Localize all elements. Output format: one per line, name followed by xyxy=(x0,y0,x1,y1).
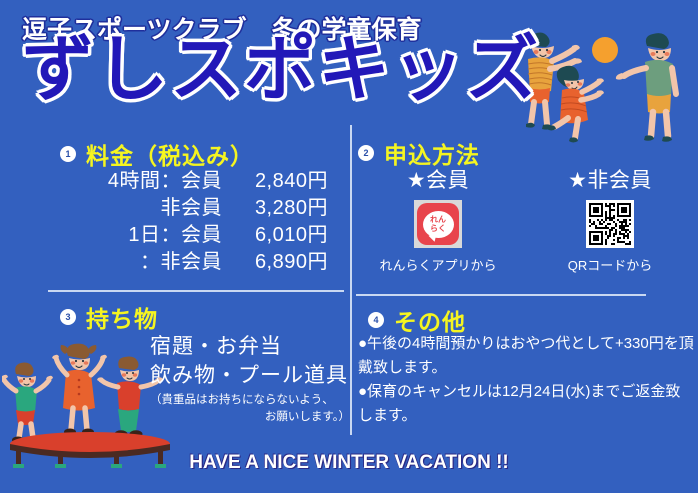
price-row: ：非会員 6,890円 xyxy=(40,249,328,276)
apply-methods: ★会員 れん らく れんらくアプリから ★非会員 QRコードから xyxy=(352,164,696,274)
renraku-icon-body: れん らく xyxy=(417,203,459,245)
section-title-belongings: 持ち物 xyxy=(86,300,158,334)
price-label: 非会員 xyxy=(40,195,228,222)
price-label: 4時間：会員 xyxy=(40,168,228,195)
belongings-note-line-1: （貴重品はお持ちにならないよう、 xyxy=(150,394,334,406)
belongings-line-2: 飲み物・プール道具 xyxy=(150,361,348,390)
section-number-badge-3: 3 xyxy=(60,309,76,325)
renraku-icon-line2: らく xyxy=(430,224,446,233)
section-number-badge-4: 4 xyxy=(368,312,384,328)
price-amount: 6,010円 xyxy=(228,222,328,249)
price-label: 1日：会員 xyxy=(40,222,228,249)
poster-canvas: 逗子スポーツクラブ 冬の学童保育 ずしスポキッズ 1 料金（税込み） 4時間：会… xyxy=(0,0,698,493)
price-amount: 2,840円 xyxy=(228,168,328,195)
belongings-list: 宿題・お弁当 飲み物・プール道具 xyxy=(150,332,348,390)
renraku-icon-line1: れん xyxy=(430,215,446,224)
section-heading-prices: 1 料金（税込み） xyxy=(60,137,254,171)
price-row: 4時間：会員 2,840円 xyxy=(40,168,328,195)
section-heading-belongings: 3 持ち物 xyxy=(60,300,158,334)
nonmember-apply-caption: QRコードから xyxy=(568,255,653,274)
belongings-note-line-2: お願いします。） xyxy=(150,409,350,426)
member-star-label: ★会員 xyxy=(407,164,469,194)
member-apply-caption: れんらくアプリから xyxy=(379,255,496,274)
section-number-badge-1: 1 xyxy=(60,146,76,162)
qr-code-matrix xyxy=(589,203,631,245)
renraku-app-icon[interactable]: れん らく xyxy=(414,200,462,248)
qr-code[interactable] xyxy=(586,200,634,248)
other-notes: ●午後の4時間預かりはおやつ代として+330円を頂戴致します。 ●保育のキャンセ… xyxy=(358,332,694,428)
price-label: ：非会員 xyxy=(40,249,228,276)
price-table: 4時間：会員 2,840円 非会員 3,280円 1日：会員 6,010円 ：非… xyxy=(40,168,328,276)
nonmember-star-label: ★非会員 xyxy=(568,164,652,194)
horizontal-divider-right xyxy=(356,294,646,296)
apply-method-member: ★会員 れん らく れんらくアプリから xyxy=(352,164,524,274)
other-bullet-1: ●午後の4時間預かりはおやつ代として+330円を頂戴致します。 xyxy=(358,332,694,380)
price-row: 1日：会員 6,010円 xyxy=(40,222,328,249)
apply-method-nonmember: ★非会員 QRコードから xyxy=(524,164,696,274)
footer-message: HAVE A NICE WINTER VACATION !! xyxy=(0,452,698,474)
price-amount: 6,890円 xyxy=(228,249,328,276)
other-bullet-2: ●保育のキャンセルは12月24日(水)までご返金致します。 xyxy=(358,380,694,428)
horizontal-divider-left xyxy=(48,290,344,292)
renraku-speech-bubble-icon: れん らく xyxy=(423,211,454,238)
belongings-note: （貴重品はお持ちにならないよう、 お願いします。） xyxy=(150,392,350,426)
poster-main-title: ずしスポキッズ xyxy=(22,34,540,106)
section-number-badge-2: 2 xyxy=(358,145,374,161)
price-amount: 3,280円 xyxy=(228,195,328,222)
belongings-line-1: 宿題・お弁当 xyxy=(150,332,348,361)
section-title-prices: 料金（税込み） xyxy=(86,137,254,171)
price-row: 非会員 3,280円 xyxy=(40,195,328,222)
